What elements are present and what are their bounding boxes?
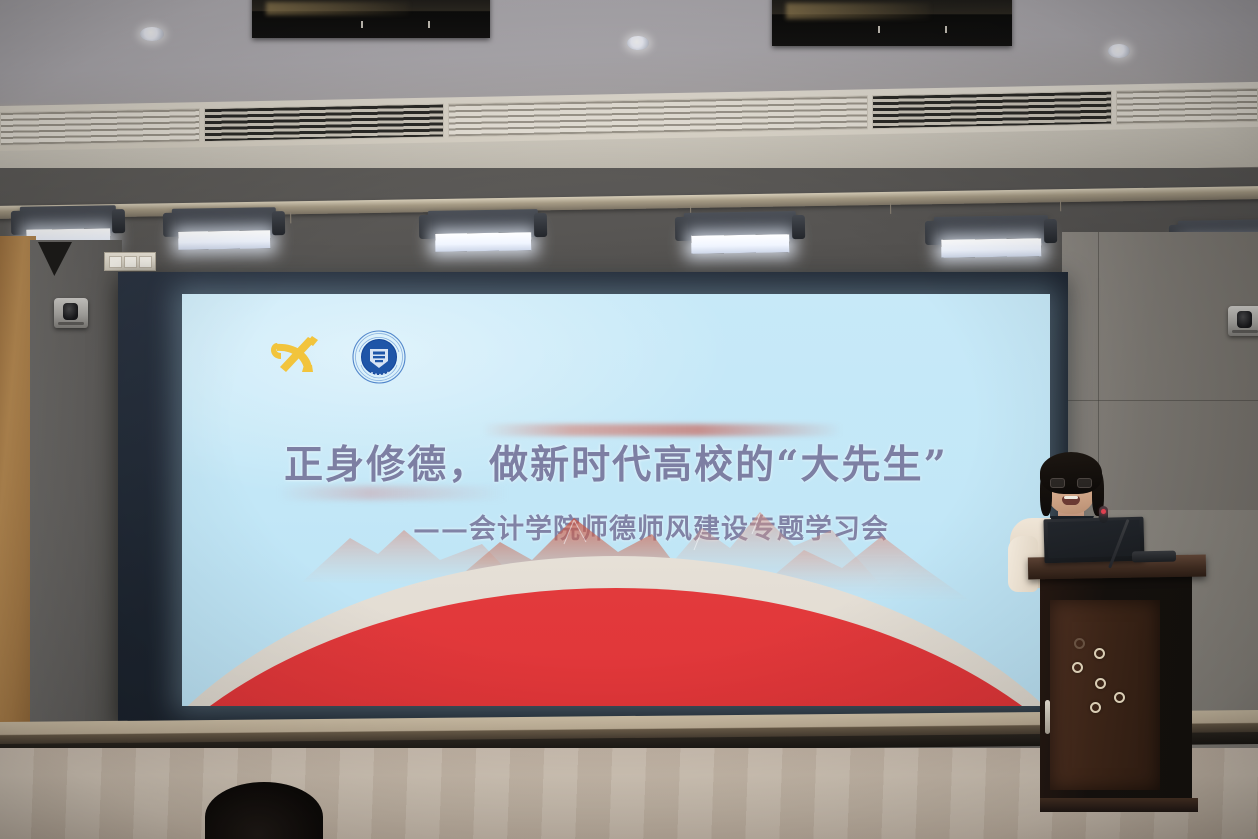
ceiling-downlight (627, 36, 649, 50)
laptop-computer[interactable] (1043, 517, 1144, 564)
air-conditioning-vent (872, 91, 1112, 130)
air-conditioning-vent (0, 108, 200, 146)
camera-vent (58, 322, 84, 325)
podium-decor-ring (1072, 662, 1083, 673)
conference-hall-scene: 正身修德，做新时代高校的“大先生” ——会计学院师德师风建设专题学习会 2025… (0, 0, 1258, 839)
ceiling-downlight (1108, 44, 1130, 58)
podium-base (1040, 798, 1198, 812)
podium-decor-ring (1090, 702, 1101, 713)
wall-switch-panel[interactable] (104, 252, 156, 271)
camera-lens-icon (63, 303, 78, 320)
slide-brush-stroke (482, 424, 842, 436)
ptz-camera-right (1228, 306, 1258, 336)
screen-bezel-frame: 正身修德，做新时代高校的“大先生” ——会计学院师德师风建设专题学习会 2025… (118, 272, 1068, 724)
mic-status-led (1101, 509, 1106, 514)
glasses-icon (1050, 478, 1092, 489)
podium-decor-ring (1074, 638, 1085, 649)
air-conditioning-vent (448, 95, 868, 137)
podium-decor-ring (1114, 692, 1125, 703)
stage-light-panel (428, 209, 538, 239)
stage-light-panel (684, 211, 796, 241)
wall-seam (1062, 400, 1258, 401)
presentation-slide: 正身修德，做新时代高校的“大先生” ——会计学院师德师风建设专题学习会 2025… (182, 294, 1050, 706)
camera-vent (1232, 330, 1258, 333)
ceiling-mounted-projector-housing (252, 0, 490, 38)
air-conditioning-vent (1116, 88, 1258, 125)
camera-lens-icon (1237, 311, 1252, 328)
slide-title: 正身修德，做新时代高校的“大先生” (182, 444, 1050, 487)
stage-light-panel (934, 215, 1048, 245)
stage-light-panel (20, 205, 116, 235)
microphone-base[interactable] (1132, 551, 1176, 563)
ceiling-mounted-projector-housing (772, 0, 1012, 46)
university-seal-icon (352, 330, 406, 384)
cpc-emblem-icon (268, 334, 320, 380)
led-display-screen[interactable]: 正身修德，做新时代高校的“大先生” ——会计学院师德师风建设专题学习会 2025… (182, 294, 1050, 706)
ceiling-downlight (140, 27, 164, 41)
air-conditioning-vent (204, 103, 444, 142)
ptz-camera-left (54, 298, 88, 328)
podium-decor-ring (1094, 648, 1105, 659)
stage-light-panel (172, 207, 276, 237)
podium-decor-ring (1095, 678, 1106, 689)
slide-logos (268, 330, 406, 384)
podium-handle[interactable] (1045, 700, 1050, 734)
podium-front-panel (1050, 600, 1160, 790)
presenter-mouth (1062, 496, 1080, 505)
